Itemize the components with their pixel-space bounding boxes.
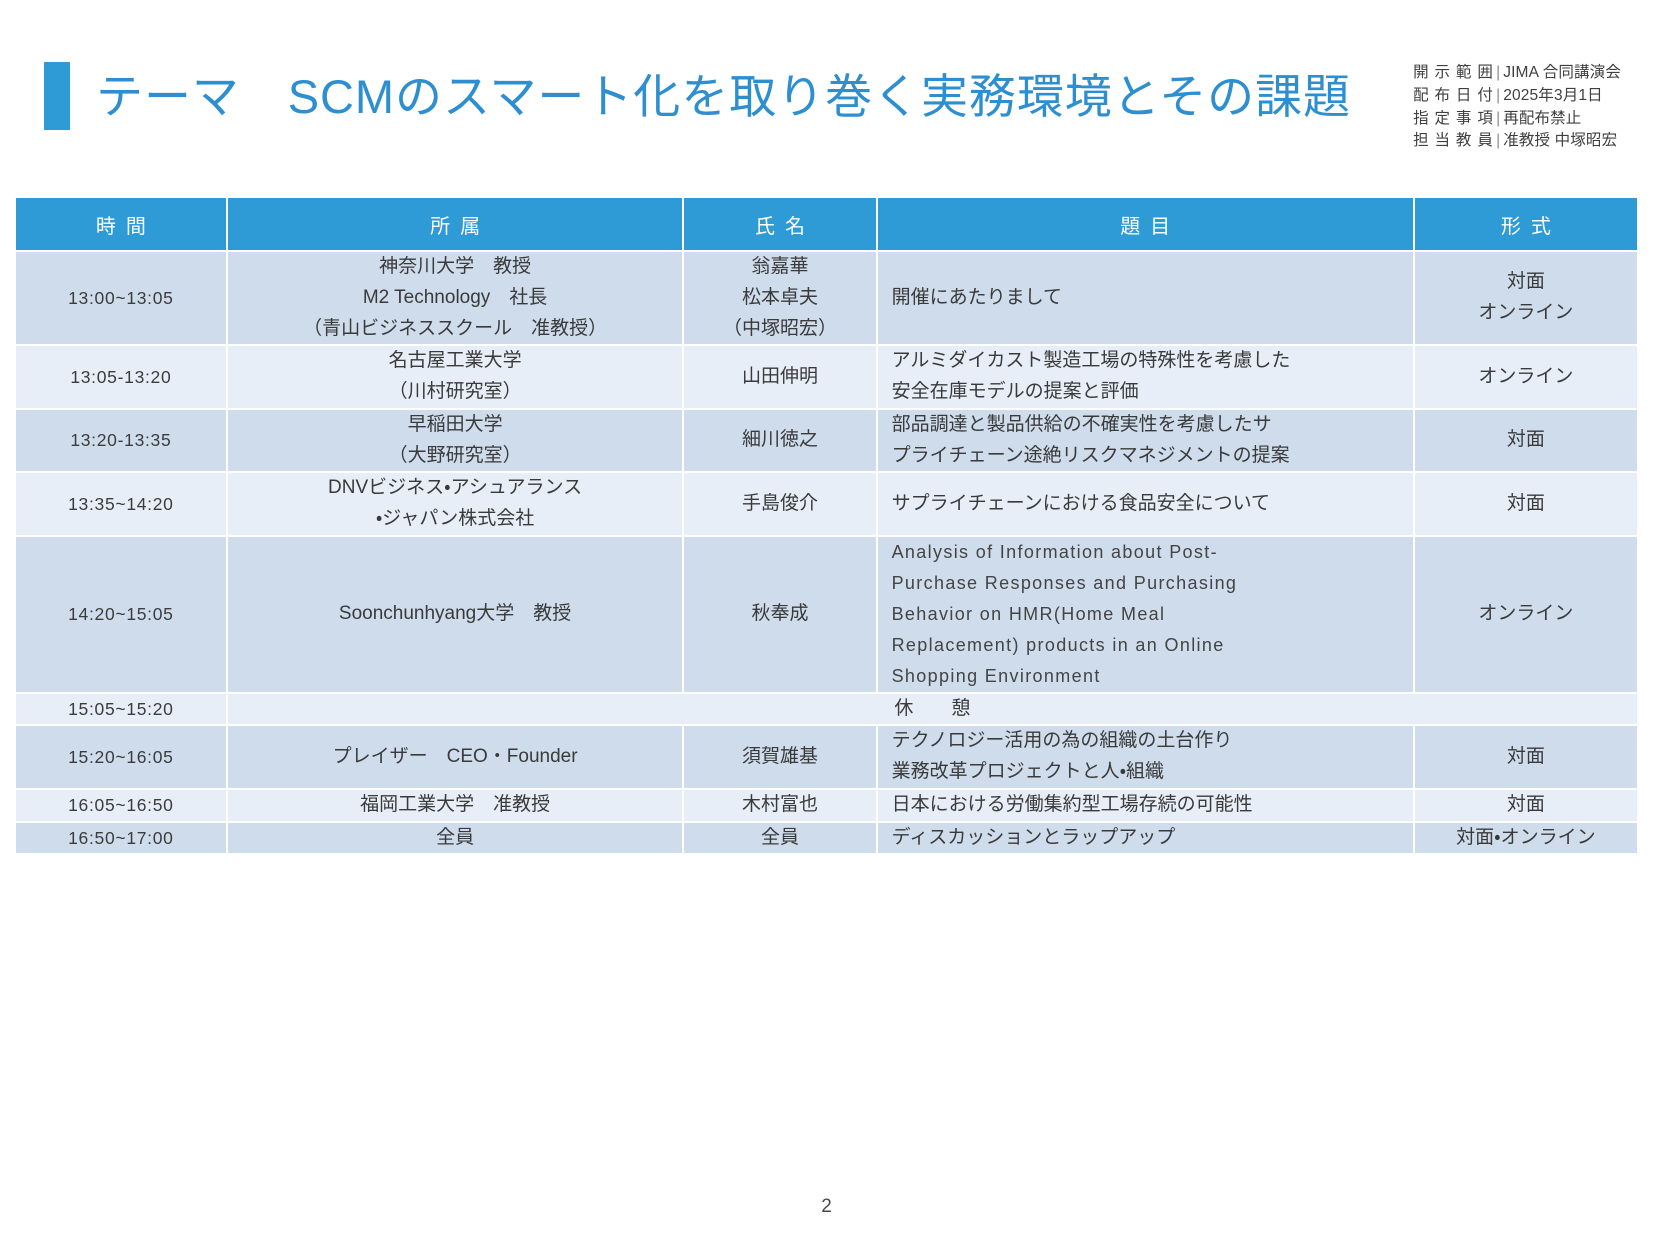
cell-presentation-title: 日本における労働集約型工場存続の可能性 — [878, 790, 1413, 821]
header-meta-separator: | — [1495, 108, 1503, 131]
cell-line: （青山ビジネススクール 准教授） — [228, 314, 683, 345]
cell-line: 須賀雄基 — [684, 742, 875, 773]
cell-line: 細川徳之 — [684, 425, 875, 456]
cell-presentation-title: サプライチェーンにおける食品安全について — [878, 473, 1413, 535]
table-header: 時間 所属 氏名 題目 形式 — [16, 198, 1637, 250]
cell-line: テクノロジー活用の為の組織の土台作り — [892, 726, 1403, 757]
table-row: 13:05-13:20名古屋工業大学（川村研究室）山田伸明アルミダイカスト製造工… — [16, 346, 1637, 408]
cell-line: 全員 — [684, 823, 875, 854]
header-meta-label: 担当教員 — [1413, 130, 1495, 153]
cell-affiliation: 神奈川大学 教授M2 Technology 社長（青山ビジネススクール 准教授） — [228, 252, 683, 344]
cell-line: 全員 — [228, 823, 683, 854]
cell-line: Replacement) products in an Online — [892, 630, 1403, 661]
cell-line: 安全在庫モデルの提案と評価 — [892, 377, 1403, 408]
cell-format: オンライン — [1415, 537, 1637, 692]
table-row: 16:50~17:00全員全員ディスカッションとラップアップ対面・オンライン — [16, 823, 1637, 854]
cell-affiliation: 早稲田大学（大野研究室） — [228, 410, 683, 472]
cell-line: Purchase Responses and Purchasing — [892, 568, 1403, 599]
page-number: 2 — [0, 1196, 1653, 1218]
cell-line: DNVビジネス・アシュアランス — [228, 473, 683, 504]
cell-affiliation: Soonchunhyang大学 教授 — [228, 537, 683, 692]
cell-affiliation: 福岡工業大学 准教授 — [228, 790, 683, 821]
cell-format: 対面・オンライン — [1415, 823, 1637, 854]
cell-line: Behavior on HMR(Home Meal — [892, 599, 1403, 630]
table-row: 13:20-13:35早稲田大学（大野研究室）細川徳之部品調達と製品供給の不確実… — [16, 410, 1637, 472]
cell-speaker-name: 山田伸明 — [684, 346, 875, 408]
header-meta-value: JIMA 合同講演会 — [1503, 62, 1621, 85]
header-metadata: 開示範囲|JIMA 合同講演会配布日付|2025年3月1日指定事項|再配布禁止担… — [1413, 62, 1621, 153]
cell-speaker-name: 手島俊介 — [684, 473, 875, 535]
cell-presentation-title: Analysis of Information about Post-Purch… — [878, 537, 1413, 692]
cell-presentation-title: テクノロジー活用の為の組織の土台作り業務改革プロジェクトと人・組織 — [878, 726, 1413, 788]
cell-line: Soonchunhyang大学 教授 — [228, 599, 683, 630]
cell-line: プレイザー CEO・Founder — [228, 742, 683, 773]
cell-line: 業務改革プロジェクトと人・組織 — [892, 757, 1403, 788]
cell-format: 対面 — [1415, 790, 1637, 821]
cell-speaker-name: 細川徳之 — [684, 410, 875, 472]
cell-time: 13:05-13:20 — [16, 346, 226, 408]
cell-break-label: 休 憩 — [228, 694, 1637, 725]
column-header-format: 形式 — [1415, 198, 1637, 250]
cell-line: ・ジャパン株式会社 — [228, 504, 683, 535]
cell-line: （大野研究室） — [228, 441, 683, 472]
cell-presentation-title: 開催にあたりまして — [878, 252, 1413, 344]
cell-line: （中塚昭宏） — [684, 314, 875, 345]
cell-line: 対面 — [1415, 790, 1637, 821]
header-meta-row: 指定事項|再配布禁止 — [1413, 108, 1621, 131]
cell-format: オンライン — [1415, 346, 1637, 408]
cell-speaker-name: 翁嘉華松本卓夫（中塚昭宏） — [684, 252, 875, 344]
table-body: 13:00~13:05神奈川大学 教授M2 Technology 社長（青山ビジ… — [16, 252, 1637, 853]
cell-time: 13:35~14:20 — [16, 473, 226, 535]
cell-line: オンライン — [1415, 599, 1637, 630]
cell-line: 松本卓夫 — [684, 283, 875, 314]
cell-affiliation: プレイザー CEO・Founder — [228, 726, 683, 788]
cell-format: 対面 — [1415, 410, 1637, 472]
cell-line: 開催にあたりまして — [892, 283, 1403, 314]
header-meta-value: 2025年3月1日 — [1503, 85, 1603, 108]
cell-line: M2 Technology 社長 — [228, 283, 683, 314]
cell-line: サプライチェーンにおける食品安全について — [892, 489, 1403, 520]
table-row: 13:00~13:05神奈川大学 教授M2 Technology 社長（青山ビジ… — [16, 252, 1637, 344]
cell-line: 福岡工業大学 准教授 — [228, 790, 683, 821]
header-meta-row: 開示範囲|JIMA 合同講演会 — [1413, 62, 1621, 85]
header-meta-row: 配布日付|2025年3月1日 — [1413, 85, 1621, 108]
cell-line: プライチェーン途絶リスクマネジメントの提案 — [892, 441, 1403, 472]
cell-line: Shopping Environment — [892, 661, 1403, 692]
cell-time: 14:20~15:05 — [16, 537, 226, 692]
header-meta-label: 開示範囲 — [1413, 62, 1495, 85]
header-meta-label: 指定事項 — [1413, 108, 1495, 131]
table-row: 15:05~15:20休 憩 — [16, 694, 1637, 725]
cell-line: 山田伸明 — [684, 362, 875, 393]
cell-time: 15:20~16:05 — [16, 726, 226, 788]
cell-line: 早稲田大学 — [228, 410, 683, 441]
cell-speaker-name: 秋奉成 — [684, 537, 875, 692]
cell-line: 翁嘉華 — [684, 252, 875, 283]
cell-line: 対面・オンライン — [1415, 823, 1637, 854]
cell-speaker-name: 木村富也 — [684, 790, 875, 821]
cell-line: 対面 — [1415, 489, 1637, 520]
cell-line: オンライン — [1415, 362, 1637, 393]
cell-presentation-title: ディスカッションとラップアップ — [878, 823, 1413, 854]
column-header-title: 題目 — [878, 198, 1413, 250]
table-row: 14:20~15:05Soonchunhyang大学 教授秋奉成Analysis… — [16, 537, 1637, 692]
cell-affiliation: 全員 — [228, 823, 683, 854]
column-header-time: 時間 — [16, 198, 226, 250]
header-meta-row: 担当教員|准教授 中塚昭宏 — [1413, 130, 1621, 153]
header-meta-label: 配布日付 — [1413, 85, 1495, 108]
cell-format: 対面オンライン — [1415, 252, 1637, 344]
slide-header: テーマ SCMのスマート化を取り巻く実務環境とその課題 開示範囲|JIMA 合同… — [0, 0, 1653, 160]
cell-line: 秋奉成 — [684, 599, 875, 630]
cell-presentation-title: アルミダイカスト製造工場の特殊性を考慮した安全在庫モデルの提案と評価 — [878, 346, 1413, 408]
header-meta-separator: | — [1495, 130, 1503, 153]
cell-time: 15:05~15:20 — [16, 694, 226, 725]
header-meta-value: 准教授 中塚昭宏 — [1503, 130, 1617, 153]
cell-line: 日本における労働集約型工場存続の可能性 — [892, 790, 1403, 821]
cell-line: 対面 — [1415, 425, 1637, 456]
cell-affiliation: DNVビジネス・アシュアランス・ジャパン株式会社 — [228, 473, 683, 535]
column-header-affil: 所属 — [228, 198, 683, 250]
cell-speaker-name: 須賀雄基 — [684, 726, 875, 788]
cell-line: 木村富也 — [684, 790, 875, 821]
table-row: 15:20~16:05プレイザー CEO・Founder須賀雄基テクノロジー活用… — [16, 726, 1637, 788]
cell-line: ディスカッションとラップアップ — [892, 823, 1403, 854]
header-meta-value: 再配布禁止 — [1503, 108, 1581, 131]
cell-time: 16:50~17:00 — [16, 823, 226, 854]
cell-affiliation: 名古屋工業大学（川村研究室） — [228, 346, 683, 408]
table-row: 13:35~14:20DNVビジネス・アシュアランス・ジャパン株式会社手島俊介サ… — [16, 473, 1637, 535]
page-title-text: テーマ SCMのスマート化を取り巻く実務環境とその課題 — [96, 73, 1351, 120]
cell-format: 対面 — [1415, 473, 1637, 535]
cell-time: 16:05~16:50 — [16, 790, 226, 821]
cell-line: 神奈川大学 教授 — [228, 252, 683, 283]
cell-line: 部品調達と製品供給の不確実性を考慮したサ — [892, 410, 1403, 441]
header-meta-separator: | — [1495, 85, 1503, 108]
cell-line: 対面 — [1415, 267, 1637, 298]
cell-line: （川村研究室） — [228, 377, 683, 408]
cell-line: 名古屋工業大学 — [228, 346, 683, 377]
header-meta-separator: | — [1495, 62, 1503, 85]
cell-speaker-name: 全員 — [684, 823, 875, 854]
table-row: 16:05~16:50福岡工業大学 准教授木村富也日本における労働集約型工場存続… — [16, 790, 1637, 821]
table-header-row: 時間 所属 氏名 題目 形式 — [16, 198, 1637, 250]
cell-time: 13:00~13:05 — [16, 252, 226, 344]
cell-presentation-title: 部品調達と製品供給の不確実性を考慮したサプライチェーン途絶リスクマネジメントの提… — [878, 410, 1413, 472]
cell-line: 対面 — [1415, 742, 1637, 773]
cell-time: 13:20-13:35 — [16, 410, 226, 472]
cell-line: アルミダイカスト製造工場の特殊性を考慮した — [892, 346, 1403, 377]
cell-line: 手島俊介 — [684, 489, 875, 520]
cell-line: オンライン — [1415, 298, 1637, 329]
cell-line: Analysis of Information about Post- — [892, 537, 1403, 568]
page-title: テーマ SCMのスマート化を取り巻く実務環境とその課題 — [44, 62, 1351, 130]
cell-format: 対面 — [1415, 726, 1637, 788]
column-header-name: 氏名 — [684, 198, 875, 250]
program-table: 時間 所属 氏名 題目 形式 13:00~13:05神奈川大学 教授M2 Tec… — [14, 196, 1639, 855]
title-accent-bar — [44, 62, 70, 130]
